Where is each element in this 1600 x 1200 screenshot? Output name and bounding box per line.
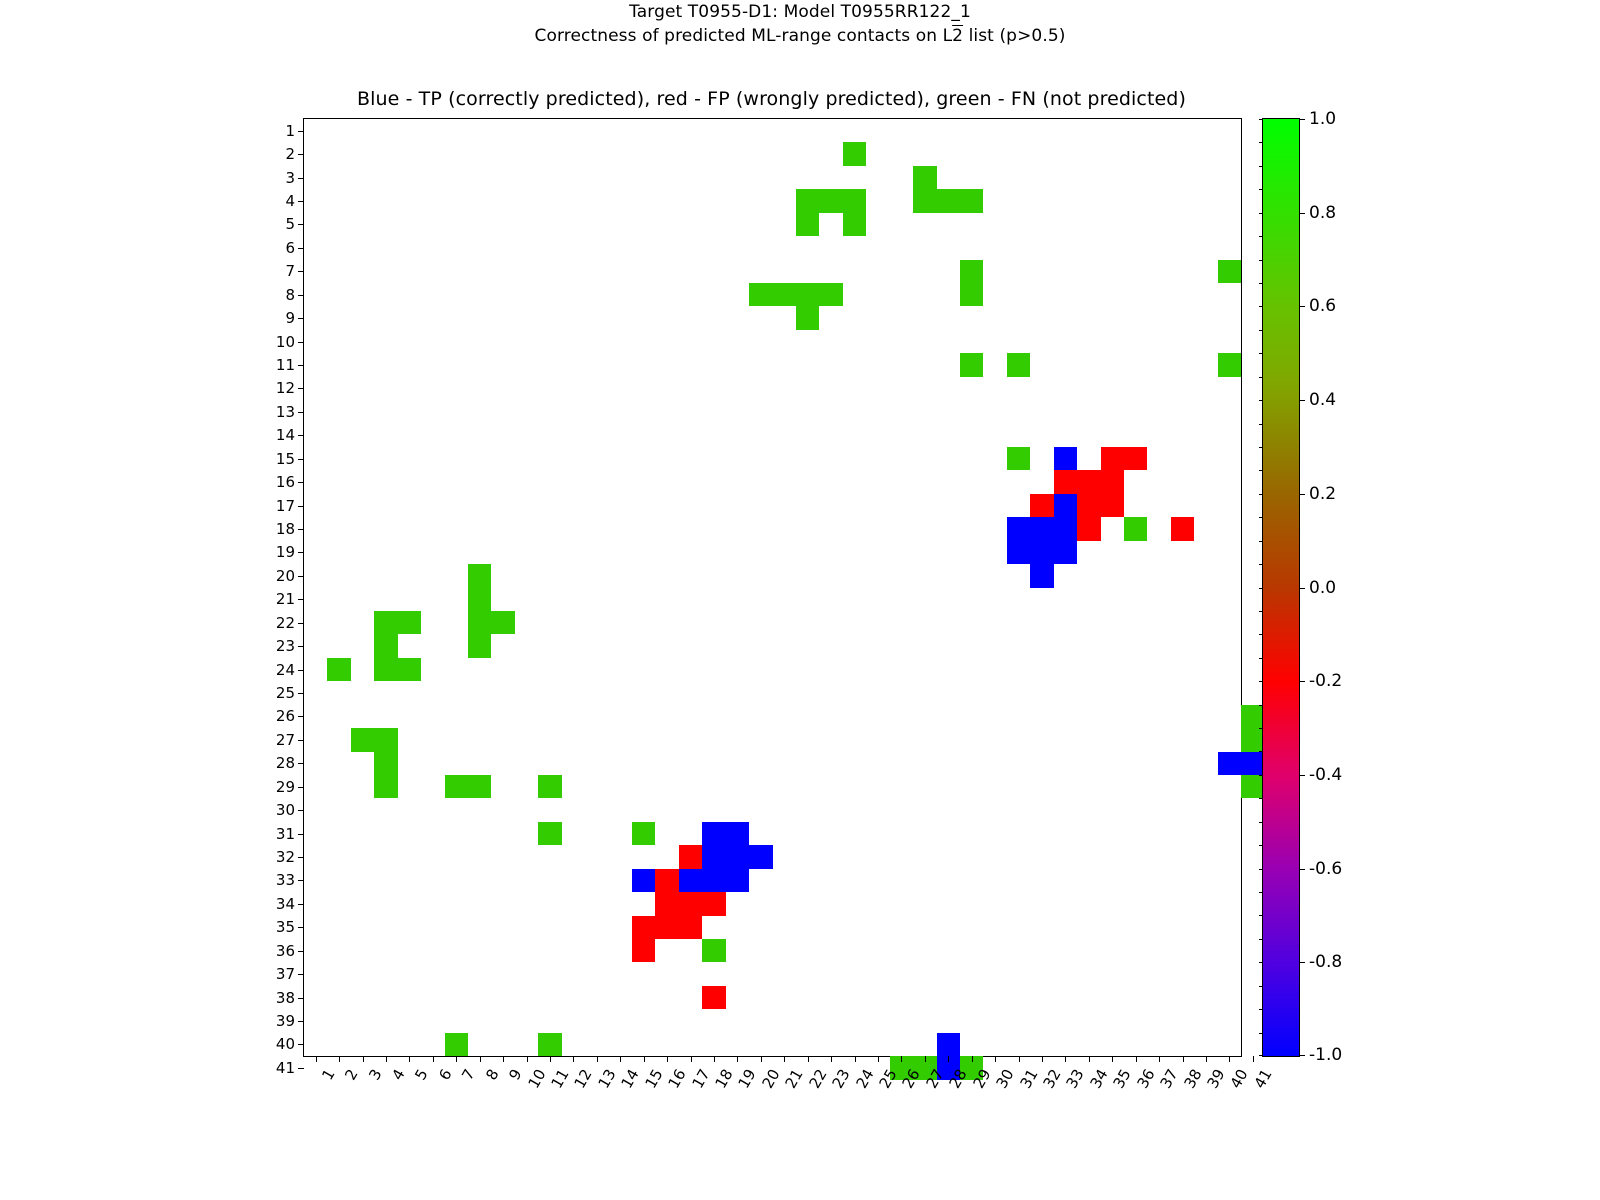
contact-cell [1054, 494, 1077, 517]
y-tick-label: 23 [276, 637, 295, 655]
contact-cell [1077, 470, 1100, 493]
y-tick-mark [298, 576, 304, 577]
x-tick-label: 9 [505, 1066, 525, 1083]
x-tick-label: 16 [665, 1066, 690, 1092]
x-tick-label: 3 [365, 1066, 385, 1083]
contact-cell [1054, 470, 1077, 493]
x-tick-label: 23 [829, 1066, 854, 1092]
x-tick-label: 18 [711, 1066, 736, 1092]
x-tick-mark [386, 1056, 387, 1062]
x-tick-mark [597, 1056, 598, 1062]
contact-cell [632, 916, 655, 939]
y-tick-mark [298, 623, 304, 624]
colorbar-tick-mark [1299, 306, 1305, 307]
colorbar-minor-tick [1259, 869, 1263, 870]
contact-cell [679, 845, 702, 868]
x-tick-label: 2 [341, 1066, 361, 1083]
x-tick-label: 30 [993, 1066, 1018, 1092]
y-tick-label: 2 [285, 145, 295, 163]
x-tick-mark [1206, 1056, 1207, 1062]
contact-cell [1030, 564, 1053, 587]
x-tick-label: 32 [1039, 1066, 1064, 1092]
contact-cell [726, 845, 749, 868]
colorbar-tick-label: -0.4 [1309, 765, 1342, 785]
x-tick-label: 17 [688, 1066, 713, 1092]
x-tick-mark [1112, 1056, 1113, 1062]
x-tick-label: 33 [1063, 1066, 1088, 1092]
y-tick-label: 7 [285, 262, 295, 280]
y-tick-mark [298, 459, 304, 460]
colorbar-minor-tick [1259, 260, 1263, 261]
x-tick-mark [620, 1056, 621, 1062]
contact-cell [398, 658, 421, 681]
contact-cell [702, 986, 725, 1009]
colorbar-tick-mark [1299, 119, 1305, 120]
contact-cell [374, 611, 397, 634]
contact-cell [679, 892, 702, 915]
y-tick-mark [298, 880, 304, 881]
colorbar-tick-mark [1299, 1055, 1305, 1056]
y-tick-mark [298, 1068, 304, 1069]
y-tick-label: 4 [285, 192, 295, 210]
contact-cell [374, 728, 397, 751]
colorbar-minor-tick [1259, 751, 1263, 752]
y-tick-mark [298, 224, 304, 225]
contact-cell [374, 775, 397, 798]
contact-cell [960, 353, 983, 376]
y-tick-label: 41 [276, 1059, 295, 1077]
colorbar-minor-tick [1259, 962, 1263, 963]
contact-cell [1218, 752, 1241, 775]
colorbar-minor-tick [1259, 658, 1263, 659]
y-tick-label: 9 [285, 309, 295, 327]
y-tick-mark [298, 740, 304, 741]
colorbar-minor-tick [1259, 353, 1263, 354]
colorbar-tick-mark [1299, 400, 1305, 401]
contact-cell [796, 189, 819, 212]
colorbar-minor-tick [1259, 798, 1263, 799]
contact-cell [702, 939, 725, 962]
colorbar-gradient [1263, 119, 1299, 1056]
colorbar-minor-tick [1259, 564, 1263, 565]
colorbar-tick-label: -0.6 [1309, 859, 1342, 879]
contact-cell [960, 260, 983, 283]
y-tick-label: 18 [276, 520, 295, 538]
y-tick-mark [298, 131, 304, 132]
contact-cell [1077, 494, 1100, 517]
y-tick-label: 15 [276, 450, 295, 468]
y-tick-label: 38 [276, 989, 295, 1007]
contact-cell [1007, 353, 1030, 376]
contact-cell [1030, 541, 1053, 564]
y-tick-mark [298, 154, 304, 155]
x-tick-mark [1253, 1056, 1254, 1062]
y-tick-mark [298, 1021, 304, 1022]
x-tick-mark [433, 1056, 434, 1062]
y-tick-mark [298, 646, 304, 647]
contact-cell [1124, 447, 1147, 470]
contact-cell [1030, 494, 1053, 517]
axes-title: Blue - TP (correctly predicted), red - F… [303, 88, 1240, 110]
x-tick-mark [784, 1056, 785, 1062]
contact-cell [913, 189, 936, 212]
colorbar-minor-tick [1259, 494, 1263, 495]
x-tick-label: 20 [758, 1066, 783, 1092]
y-tick-mark [298, 974, 304, 975]
colorbar-tick-mark [1299, 213, 1305, 214]
colorbar-minor-tick [1259, 236, 1263, 237]
contact-cell [1101, 447, 1124, 470]
contact-cell [960, 189, 983, 212]
x-tick-mark [480, 1056, 481, 1062]
colorbar-minor-tick [1259, 634, 1263, 635]
y-tick-label: 17 [276, 497, 295, 515]
x-tick-label: 14 [618, 1066, 643, 1092]
colorbar-minor-tick [1259, 728, 1263, 729]
y-tick-mark [298, 529, 304, 530]
x-tick-label: 15 [641, 1066, 666, 1092]
x-tick-mark [339, 1056, 340, 1062]
x-tick-label: 31 [1016, 1066, 1041, 1092]
contact-cell [843, 189, 866, 212]
y-tick-label: 19 [276, 543, 295, 561]
contact-cell [655, 916, 678, 939]
y-tick-label: 32 [276, 848, 295, 866]
contact-cell [796, 213, 819, 236]
contact-cell [655, 892, 678, 915]
x-tick-label: 11 [547, 1066, 572, 1092]
figure-suptitle: Target T0955-D1: Model T0955RR122_1 Corr… [0, 0, 1600, 48]
contact-cell [819, 189, 842, 212]
contact-cell [726, 822, 749, 845]
colorbar-minor-tick [1259, 142, 1263, 143]
x-tick-mark [503, 1056, 504, 1062]
contact-cell [1218, 353, 1241, 376]
y-tick-label: 1 [285, 122, 295, 140]
x-tick-label: 24 [852, 1066, 877, 1092]
x-tick-label: 4 [388, 1066, 408, 1083]
x-tick-label: 36 [1133, 1066, 1158, 1092]
colorbar-tick-mark [1299, 681, 1305, 682]
suptitle-line-2-overline: 2 [952, 26, 963, 46]
y-tick-label: 24 [276, 661, 295, 679]
colorbar-minor-tick [1259, 1009, 1263, 1010]
x-tick-label: 38 [1180, 1066, 1205, 1092]
contact-cell [843, 142, 866, 165]
contact-cell [468, 611, 491, 634]
y-tick-label: 3 [285, 169, 295, 187]
colorbar[interactable]: 1.00.80.60.40.20.0-0.2-0.4-0.6-0.8-1.0 [1262, 118, 1300, 1057]
colorbar-minor-tick [1259, 517, 1263, 518]
y-tick-mark [298, 482, 304, 483]
contact-cell [1101, 470, 1124, 493]
contact-cell [937, 189, 960, 212]
x-tick-label: 12 [571, 1066, 596, 1092]
suptitle-line-1: Target T0955-D1: Model T0955RR122_1 [0, 0, 1600, 24]
contact-cell-layer [304, 119, 1241, 1056]
contact-cell [374, 658, 397, 681]
x-tick-mark [855, 1056, 856, 1062]
colorbar-minor-tick [1259, 822, 1263, 823]
x-tick-mark [995, 1056, 996, 1062]
x-tick-mark [1159, 1056, 1160, 1062]
colorbar-minor-tick [1259, 377, 1263, 378]
x-tick-mark [925, 1056, 926, 1062]
colorbar-minor-tick [1259, 588, 1263, 589]
contact-cell [632, 939, 655, 962]
contact-cell [445, 775, 468, 798]
x-tick-mark [972, 1056, 973, 1062]
y-tick-label: 20 [276, 567, 295, 585]
contact-map-plot-area[interactable]: 1234567891011121314151617181920212223242… [303, 118, 1242, 1057]
suptitle-line-2-post: list (p>0.5) [963, 26, 1065, 46]
x-tick-mark [527, 1056, 528, 1062]
y-tick-mark [298, 670, 304, 671]
y-tick-label: 14 [276, 426, 295, 444]
colorbar-minor-tick [1259, 119, 1263, 120]
contact-cell [632, 822, 655, 845]
contact-cell [702, 822, 725, 845]
contact-cell [655, 869, 678, 892]
y-tick-label: 30 [276, 801, 295, 819]
x-tick-mark [644, 1056, 645, 1062]
colorbar-minor-tick [1259, 447, 1263, 448]
x-tick-label: 6 [435, 1066, 455, 1083]
x-tick-label: 5 [412, 1066, 432, 1083]
colorbar-tick-label: 0.8 [1309, 203, 1336, 223]
x-tick-label: 37 [1157, 1066, 1182, 1092]
x-tick-label: 41 [1250, 1066, 1275, 1092]
y-tick-mark [298, 271, 304, 272]
colorbar-tick-mark [1299, 775, 1305, 776]
y-tick-mark [298, 904, 304, 905]
y-tick-label: 21 [276, 590, 295, 608]
contact-cell [491, 611, 514, 634]
y-tick-mark [298, 506, 304, 507]
y-tick-label: 26 [276, 707, 295, 725]
contact-cell [468, 588, 491, 611]
contact-cell [1077, 517, 1100, 540]
contact-cell [749, 283, 772, 306]
x-tick-mark [1183, 1056, 1184, 1062]
colorbar-minor-tick [1259, 915, 1263, 916]
y-tick-label: 25 [276, 684, 295, 702]
y-tick-label: 36 [276, 942, 295, 960]
y-tick-mark [298, 693, 304, 694]
contact-cell [702, 892, 725, 915]
y-tick-label: 6 [285, 239, 295, 257]
y-tick-mark [298, 810, 304, 811]
contact-cell [1054, 541, 1077, 564]
colorbar-minor-tick [1259, 705, 1263, 706]
y-tick-mark [298, 342, 304, 343]
x-tick-label: 1 [318, 1066, 338, 1083]
x-tick-mark [1019, 1056, 1020, 1062]
colorbar-tick-label: 0.6 [1309, 296, 1336, 316]
colorbar-minor-tick [1259, 400, 1263, 401]
colorbar-tick-mark [1299, 869, 1305, 870]
x-tick-mark [550, 1056, 551, 1062]
y-tick-label: 22 [276, 614, 295, 632]
colorbar-minor-tick [1259, 213, 1263, 214]
colorbar-tick-mark [1299, 588, 1305, 589]
x-tick-mark [761, 1056, 762, 1062]
contact-cell [937, 1033, 960, 1056]
colorbar-minor-tick [1259, 681, 1263, 682]
x-tick-label: 7 [458, 1066, 478, 1083]
colorbar-minor-tick [1259, 189, 1263, 190]
y-tick-label: 37 [276, 965, 295, 983]
x-tick-mark [456, 1056, 457, 1062]
contact-cell [843, 213, 866, 236]
y-tick-label: 5 [285, 215, 295, 233]
contact-cell [468, 775, 491, 798]
y-tick-mark [298, 716, 304, 717]
colorbar-tick-label: -0.2 [1309, 671, 1342, 691]
contact-cell [819, 283, 842, 306]
y-tick-mark [298, 834, 304, 835]
y-tick-label: 11 [276, 356, 295, 374]
x-tick-label: 13 [594, 1066, 619, 1092]
x-tick-mark [714, 1056, 715, 1062]
colorbar-tick-label: 1.0 [1309, 109, 1336, 129]
y-tick-mark [298, 295, 304, 296]
x-tick-mark [737, 1056, 738, 1062]
contact-cell [679, 916, 702, 939]
colorbar-minor-tick [1259, 611, 1263, 612]
y-tick-mark [298, 552, 304, 553]
y-tick-label: 33 [276, 871, 295, 889]
x-tick-label: 21 [782, 1066, 807, 1092]
colorbar-minor-tick [1259, 306, 1263, 307]
y-tick-mark [298, 763, 304, 764]
contact-cell [679, 869, 702, 892]
x-tick-mark [1089, 1056, 1090, 1062]
y-tick-label: 28 [276, 754, 295, 772]
y-tick-mark [298, 365, 304, 366]
y-tick-label: 12 [276, 379, 295, 397]
suptitle-line-2-pre: Correctness of predicted ML-range contac… [534, 26, 952, 46]
contact-cell [351, 728, 374, 751]
colorbar-tick-mark [1299, 494, 1305, 495]
y-tick-label: 34 [276, 895, 295, 913]
contact-cell [749, 845, 772, 868]
x-tick-label: 35 [1110, 1066, 1135, 1092]
contact-cell [1007, 447, 1030, 470]
y-tick-label: 27 [276, 731, 295, 749]
y-tick-mark [298, 388, 304, 389]
contact-cell [374, 752, 397, 775]
x-tick-mark [808, 1056, 809, 1062]
y-tick-label: 29 [276, 778, 295, 796]
contact-cell [1030, 517, 1053, 540]
colorbar-minor-tick [1259, 470, 1263, 471]
contact-cell [1171, 517, 1194, 540]
y-tick-label: 31 [276, 825, 295, 843]
contact-cell [468, 564, 491, 587]
contact-cell [1007, 517, 1030, 540]
y-tick-label: 10 [276, 333, 295, 351]
y-tick-mark [298, 599, 304, 600]
contact-cell [702, 845, 725, 868]
y-tick-mark [298, 951, 304, 952]
y-tick-mark [298, 927, 304, 928]
colorbar-minor-tick [1259, 775, 1263, 776]
x-tick-label: 40 [1227, 1066, 1252, 1092]
y-tick-label: 40 [276, 1035, 295, 1053]
x-tick-mark [831, 1056, 832, 1062]
colorbar-tick-label: -1.0 [1309, 1045, 1342, 1065]
x-tick-mark [691, 1056, 692, 1062]
y-tick-label: 39 [276, 1012, 295, 1030]
x-tick-label: 8 [482, 1066, 502, 1083]
x-tick-label: 34 [1086, 1066, 1111, 1092]
colorbar-tick-label: 0.4 [1309, 390, 1336, 410]
x-tick-mark [1042, 1056, 1043, 1062]
y-tick-mark [298, 248, 304, 249]
contact-cell [374, 634, 397, 657]
y-tick-label: 16 [276, 473, 295, 491]
x-tick-label: 10 [524, 1066, 549, 1092]
colorbar-minor-tick [1259, 939, 1263, 940]
colorbar-minor-tick [1259, 892, 1263, 893]
contact-cell [702, 869, 725, 892]
colorbar-minor-tick [1259, 1055, 1263, 1056]
contact-cell [1007, 541, 1030, 564]
colorbar-minor-tick [1259, 424, 1263, 425]
colorbar-minor-tick [1259, 330, 1263, 331]
colorbar-minor-tick [1259, 986, 1263, 987]
contact-cell [468, 634, 491, 657]
y-tick-mark [298, 998, 304, 999]
y-tick-mark [298, 318, 304, 319]
colorbar-tick-mark [1299, 962, 1305, 963]
colorbar-minor-tick [1259, 541, 1263, 542]
x-tick-label: 19 [735, 1066, 760, 1092]
x-tick-mark [878, 1056, 879, 1062]
colorbar-tick-label: 0.2 [1309, 484, 1336, 504]
x-tick-mark [409, 1056, 410, 1062]
colorbar-tick-label: 0.0 [1309, 578, 1336, 598]
x-tick-mark [363, 1056, 364, 1062]
contact-map-figure: Target T0955-D1: Model T0955RR122_1 Corr… [0, 0, 1600, 1200]
x-tick-mark [1229, 1056, 1230, 1062]
y-tick-mark [298, 201, 304, 202]
x-tick-mark [1136, 1056, 1137, 1062]
y-tick-mark [298, 412, 304, 413]
y-tick-mark [298, 435, 304, 436]
y-tick-mark [298, 787, 304, 788]
x-tick-mark [667, 1056, 668, 1062]
contact-cell [538, 822, 561, 845]
x-tick-label: 39 [1203, 1066, 1228, 1092]
contact-cell [1054, 447, 1077, 470]
contact-cell [398, 611, 421, 634]
contact-cell [796, 306, 819, 329]
x-tick-mark [901, 1056, 902, 1062]
y-tick-label: 13 [276, 403, 295, 421]
contact-cell [632, 869, 655, 892]
y-tick-label: 35 [276, 918, 295, 936]
x-tick-mark [948, 1056, 949, 1062]
contact-cell [913, 166, 936, 189]
y-tick-label: 8 [285, 286, 295, 304]
x-tick-mark [1065, 1056, 1066, 1062]
contact-cell [960, 283, 983, 306]
colorbar-minor-tick [1259, 283, 1263, 284]
x-tick-mark [316, 1056, 317, 1062]
contact-cell [1218, 260, 1241, 283]
